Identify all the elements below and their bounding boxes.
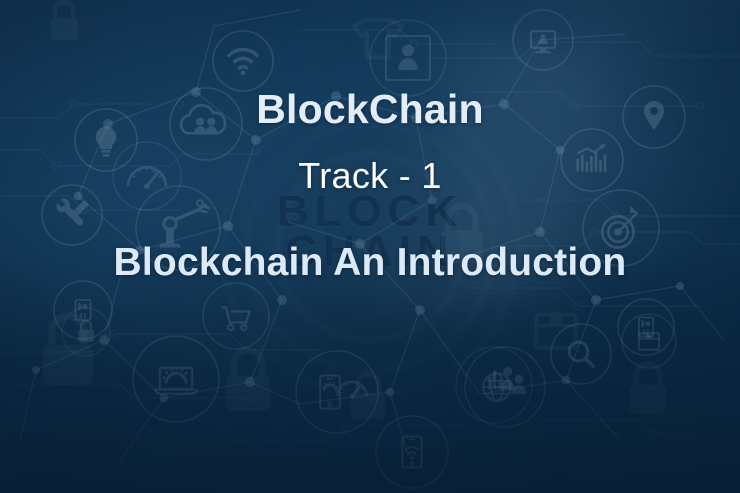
presentation-subtitle: Blockchain An Introduction	[114, 241, 627, 285]
title-slide: BLOCK CHAIN	[0, 0, 740, 493]
title-content: BlockChain Track - 1 Blockchain An Intro…	[0, 0, 740, 493]
page-title: BlockChain	[256, 86, 484, 133]
track-label: Track - 1	[298, 155, 441, 197]
